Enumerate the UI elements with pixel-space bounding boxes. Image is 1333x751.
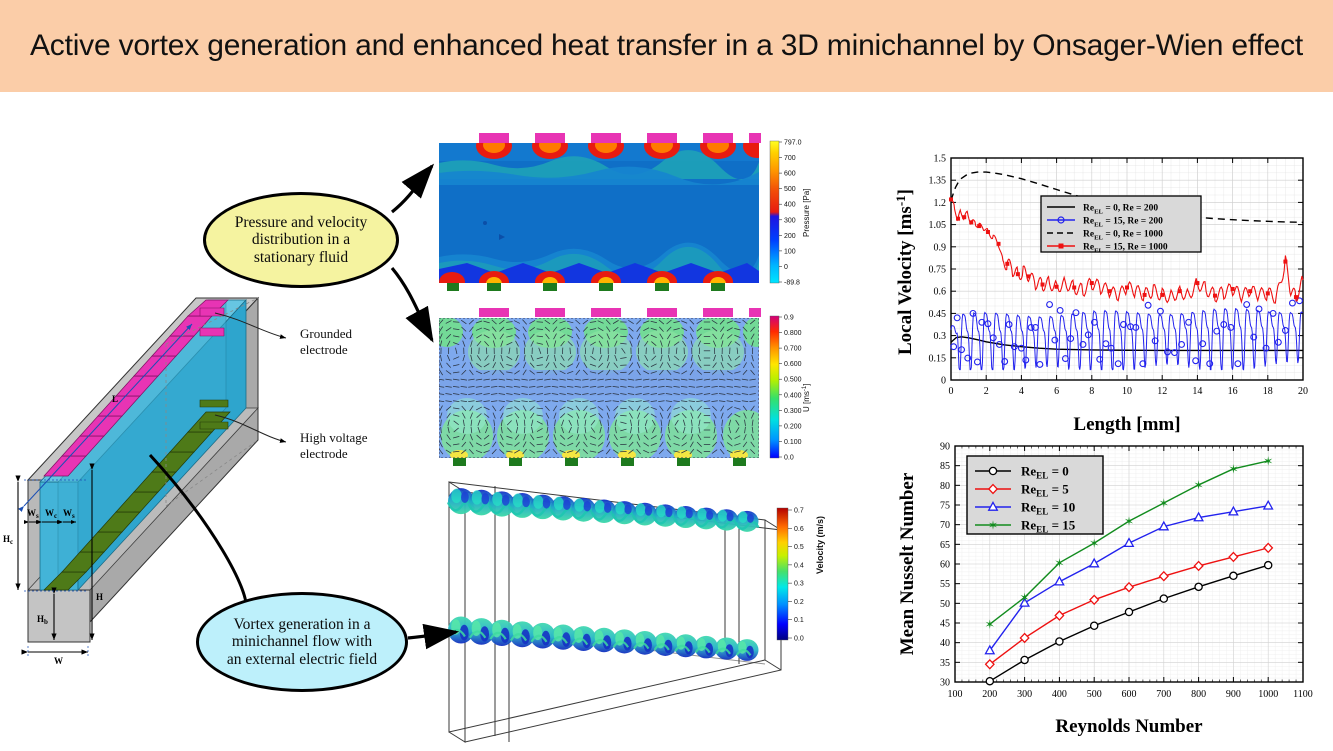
svg-text:18: 18 <box>1263 386 1273 397</box>
svg-text:1000: 1000 <box>1258 689 1278 700</box>
svg-text:0.100: 0.100 <box>784 439 802 446</box>
svg-text:Hc: Hc <box>3 534 13 546</box>
svg-text:0.15: 0.15 <box>929 353 947 364</box>
svg-text:W: W <box>54 656 63 666</box>
svg-text:45: 45 <box>940 619 950 630</box>
callout-line-2: minichannel flow with <box>227 633 377 650</box>
callout-vortex-generation: Vortex generation in a minichannel flow … <box>196 592 408 692</box>
svg-text:100: 100 <box>948 689 963 700</box>
chart-gridlines <box>951 158 1303 380</box>
svg-text:8: 8 <box>1089 386 1094 397</box>
chart-legend[interactable]: ReEL = 0, Re = 200ReEL = 15, Re = 200ReE… <box>1041 196 1201 255</box>
svg-text:0.7: 0.7 <box>794 508 804 515</box>
svg-text:0.0: 0.0 <box>784 455 794 462</box>
svg-text:300: 300 <box>784 217 796 224</box>
svg-text:1.2: 1.2 <box>934 198 947 209</box>
svg-text:0: 0 <box>784 264 788 271</box>
svg-text:1100: 1100 <box>1293 689 1313 700</box>
svg-text:14: 14 <box>1192 386 1202 397</box>
svg-text:1.5: 1.5 <box>934 154 947 165</box>
svg-text:500: 500 <box>1087 689 1102 700</box>
svg-text:0.800: 0.800 <box>784 330 802 337</box>
svg-text:30: 30 <box>940 678 950 689</box>
svg-text:0.4: 0.4 <box>794 562 804 569</box>
svg-text:12: 12 <box>1157 386 1167 397</box>
svg-text:0.1: 0.1 <box>794 617 804 624</box>
local-velocity-chart: 0246810121416182000.150.30.450.60.750.91… <box>893 140 1333 440</box>
x-axis-title: Reynolds Number <box>1055 716 1203 737</box>
svg-text:50: 50 <box>940 599 950 610</box>
dimension-W: W <box>28 652 88 666</box>
svg-text:0.3: 0.3 <box>794 581 804 588</box>
svg-text:100: 100 <box>784 248 796 255</box>
svg-text:800: 800 <box>1191 689 1206 700</box>
title-banner: Active vortex generation and enhanced he… <box>0 0 1333 92</box>
svg-text:200: 200 <box>982 689 997 700</box>
svg-text:1.35: 1.35 <box>929 176 947 187</box>
svg-text:0.45: 0.45 <box>929 309 947 320</box>
svg-text:60: 60 <box>940 560 950 571</box>
svg-text:55: 55 <box>940 579 950 590</box>
svg-text:400: 400 <box>784 202 796 209</box>
svg-text:1.05: 1.05 <box>929 220 947 231</box>
svg-text:80: 80 <box>940 481 950 492</box>
svg-text:900: 900 <box>1226 689 1241 700</box>
svg-text:600: 600 <box>1122 689 1137 700</box>
svg-text:0.9: 0.9 <box>784 315 794 322</box>
callout-line-2: distribution in a <box>235 231 368 248</box>
grounded-electrode-label: Grounded electrode <box>300 326 355 357</box>
svg-text:6: 6 <box>1054 386 1059 397</box>
bottom-electrodes <box>447 283 725 291</box>
svg-text:75: 75 <box>940 501 950 512</box>
callout-line-1: Vortex generation in a <box>227 616 377 633</box>
y-axis-title: Mean Nusselt Number <box>897 472 918 655</box>
svg-text:35: 35 <box>940 658 950 669</box>
svg-text:0.300: 0.300 <box>784 408 802 415</box>
pressure-field <box>439 133 771 293</box>
svg-text:500: 500 <box>784 186 796 193</box>
svg-text:0: 0 <box>949 386 954 397</box>
velocity-vector-panel: 0.90.8000.7000.6000.5000.4000.3000.2000.… <box>437 308 797 468</box>
iso3d-colorbar-title: Velocity (m/s) <box>815 516 825 574</box>
callout-line-1: Pressure and velocity <box>235 214 368 231</box>
iso3d-colorbar: 0.70.60.50.40.30.20.10.0 Velocity (m/s) <box>777 508 825 643</box>
pressure-contour-panel: 797.07006005004003002001000-89.8 Pressur… <box>437 133 797 293</box>
svg-text:0.9: 0.9 <box>934 242 947 253</box>
callout-pressure-velocity: Pressure and velocity distribution in a … <box>203 192 399 288</box>
svg-text:H: H <box>96 592 103 602</box>
velocity-colorbar: 0.90.8000.7000.6000.5000.4000.3000.2000.… <box>770 315 811 462</box>
svg-text:65: 65 <box>940 540 950 551</box>
svg-text:0: 0 <box>941 376 946 387</box>
svg-text:0.200: 0.200 <box>784 423 802 430</box>
velocity-colorbar-title: U [ms-1] <box>802 384 811 412</box>
callout-line-3: an external electric field <box>227 651 377 668</box>
svg-text:0.600: 0.600 <box>784 361 802 368</box>
svg-text:0.5: 0.5 <box>794 544 804 551</box>
top-electrodes <box>479 133 761 143</box>
svg-text:0.6: 0.6 <box>934 287 947 298</box>
svg-text:600: 600 <box>784 171 796 178</box>
svg-text:40: 40 <box>940 638 950 649</box>
page-title: Active vortex generation and enhanced he… <box>30 29 1303 63</box>
svg-text:700: 700 <box>784 155 796 162</box>
svg-text:0.0: 0.0 <box>794 636 804 643</box>
svg-text:90: 90 <box>940 442 950 453</box>
svg-text:300: 300 <box>1017 689 1032 700</box>
svg-text:700: 700 <box>1156 689 1171 700</box>
vortex-isosurface-panel: 0.70.60.50.40.30.20.10.0 Velocity (m/s) <box>425 470 810 750</box>
svg-text:4: 4 <box>1019 386 1024 397</box>
velocity-field <box>431 316 771 462</box>
top-electrodes <box>479 308 761 317</box>
bottom-electrodes <box>453 458 746 466</box>
hv-electrode-label: High voltage electrode <box>300 430 371 461</box>
callout-line-3: stationary fluid <box>235 249 368 266</box>
svg-text:400: 400 <box>1052 689 1067 700</box>
svg-text:0.75: 0.75 <box>929 265 947 276</box>
mean-nusselt-chart: 1002003004005006007008009001000110030354… <box>893 432 1333 750</box>
svg-text:0.3: 0.3 <box>934 331 947 342</box>
svg-text:85: 85 <box>940 461 950 472</box>
svg-text:16: 16 <box>1228 386 1238 397</box>
svg-text:200: 200 <box>784 233 796 240</box>
chart-legend[interactable]: ReEL = 0ReEL = 5ReEL = 10ReEL = 15 <box>967 456 1103 535</box>
svg-text:0.2: 0.2 <box>794 599 804 606</box>
svg-text:70: 70 <box>940 520 950 531</box>
svg-text:0.400: 0.400 <box>784 392 802 399</box>
svg-text:L: L <box>112 394 118 404</box>
svg-text:ReEL = 15: ReEL = 15 <box>1021 518 1076 535</box>
pressure-colorbar-title: Pressure [Pa] <box>802 189 811 237</box>
svg-text:0.700: 0.700 <box>784 346 802 353</box>
svg-text:0.500: 0.500 <box>784 377 802 384</box>
svg-text:2: 2 <box>984 386 989 397</box>
svg-text:ReEL = 10: ReEL = 10 <box>1021 500 1075 517</box>
pressure-colorbar: 797.07006005004003002001000-89.8 Pressur… <box>770 140 811 287</box>
svg-text:797.0: 797.0 <box>784 140 802 147</box>
svg-text:20: 20 <box>1298 386 1308 397</box>
y-axis-title: Local Velocity [ms-1] <box>893 189 916 355</box>
svg-text:0.6: 0.6 <box>794 526 804 533</box>
svg-text:-89.8: -89.8 <box>784 280 800 287</box>
svg-text:10: 10 <box>1122 386 1132 397</box>
dimension-Hc: Hc <box>3 482 18 590</box>
